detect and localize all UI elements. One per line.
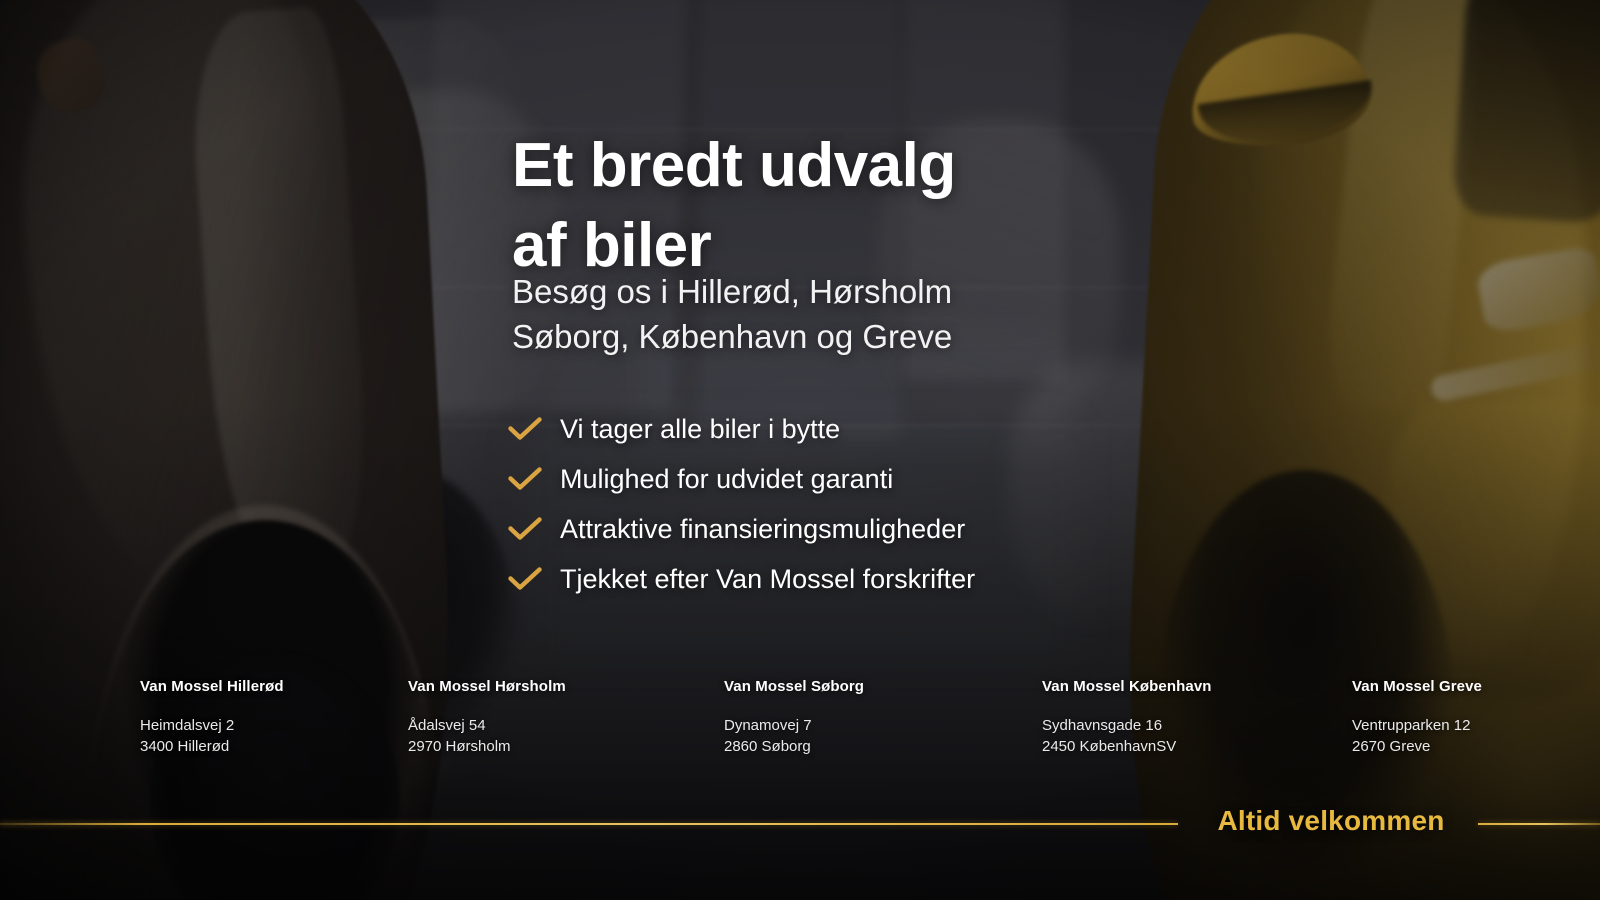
dealer-street: Ådalsvej 54 — [408, 715, 566, 736]
dealer-name: Van Mossel Greve — [1352, 678, 1482, 695]
feature-list: Vi tager alle biler i bytte Mulighed for… — [508, 404, 1188, 604]
dealer-city: 3400 Hillerød — [140, 736, 284, 757]
list-item: Tjekket efter Van Mossel forskrifter — [508, 554, 1188, 604]
dealer-name: Van Mossel Søborg — [724, 678, 864, 695]
feature-label: Attraktive finansieringsmuligheder — [560, 516, 965, 543]
headline-line-1: Et bredt udvalg — [512, 126, 1152, 207]
dealer-name: Van Mossel Hørsholm — [408, 678, 566, 695]
promo-slide: Et bredt udvalg af biler Besøg os i Hill… — [0, 0, 1600, 900]
slide-content: Et bredt udvalg af biler Besøg os i Hill… — [0, 0, 1600, 900]
dealer-location-horsholm: Van Mossel Hørsholm Ådalsvej 54 2970 Hør… — [320, 678, 640, 758]
subtitle-line-2: Søborg, København og Greve — [512, 315, 1172, 360]
dealer-street: Dynamovej 7 — [724, 715, 864, 736]
list-item: Attraktive finansieringsmuligheder — [508, 504, 1188, 554]
dealer-location-hillerod: Van Mossel Hillerød Heimdalsvej 2 3400 H… — [0, 678, 320, 758]
check-icon — [508, 416, 560, 442]
feature-label: Vi tager alle biler i bytte — [560, 416, 840, 443]
dealer-locations: Van Mossel Hillerød Heimdalsvej 2 3400 H… — [0, 678, 1600, 758]
dealer-name: Van Mossel København — [1042, 678, 1212, 695]
dealer-location-soborg: Van Mossel Søborg Dynamovej 7 2860 Søbor… — [640, 678, 960, 758]
dealer-city: 2860 Søborg — [724, 736, 864, 757]
feature-label: Mulighed for udvidet garanti — [560, 466, 893, 493]
dealer-city: 2670 Greve — [1352, 736, 1482, 757]
dealer-street: Sydhavnsgade 16 — [1042, 715, 1212, 736]
dealer-location-kobenhavn: Van Mossel København Sydhavnsgade 16 245… — [960, 678, 1280, 758]
divider-left — [0, 823, 1178, 825]
dealer-location-greve: Van Mossel Greve Ventrupparken 12 2670 G… — [1280, 678, 1600, 758]
dealer-street: Ventrupparken 12 — [1352, 715, 1482, 736]
footer-tagline: Altid velkommen — [1196, 805, 1466, 837]
dealer-city: 2970 Hørsholm — [408, 736, 566, 757]
dealer-name: Van Mossel Hillerød — [140, 678, 284, 695]
dealer-street: Heimdalsvej 2 — [140, 715, 284, 736]
page-title: Et bredt udvalg af biler — [512, 126, 1152, 287]
feature-label: Tjekket efter Van Mossel forskrifter — [560, 566, 975, 593]
subtitle-line-1: Besøg os i Hillerød, Hørsholm — [512, 270, 1172, 315]
slide-footer: Altid velkommen — [0, 800, 1600, 852]
check-icon — [508, 516, 560, 542]
dealer-city: 2450 KøbenhavnSV — [1042, 736, 1212, 757]
list-item: Mulighed for udvidet garanti — [508, 454, 1188, 504]
list-item: Vi tager alle biler i bytte — [508, 404, 1188, 454]
divider-right — [1478, 823, 1600, 825]
check-icon — [508, 566, 560, 592]
check-icon — [508, 466, 560, 492]
subtitle: Besøg os i Hillerød, Hørsholm Søborg, Kø… — [512, 270, 1172, 360]
